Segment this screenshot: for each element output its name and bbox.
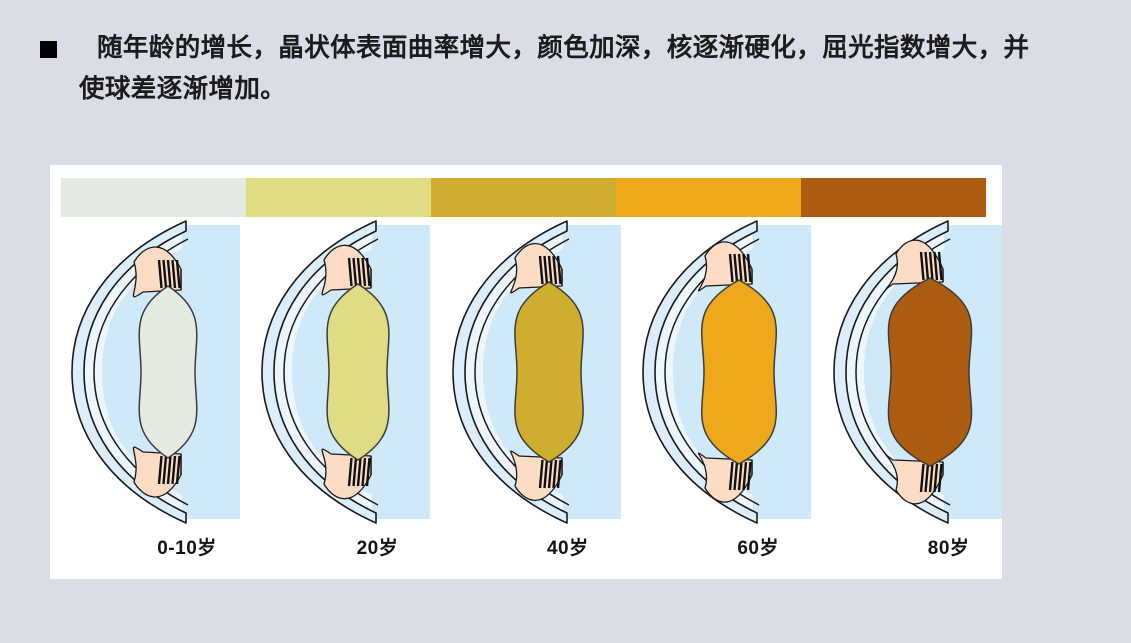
bullet-paragraph: 随年龄的增长，晶状体表面曲率增大，颜色加深，核逐渐硬化，屈光指数增大，并使球差逐… (40, 28, 1050, 111)
eye-diagram-60 (621, 217, 811, 527)
figure-panel: 0-10岁20岁40岁60岁80岁 (50, 165, 1002, 579)
eye-diagram-80 (812, 217, 1002, 527)
crystalline-lens (327, 284, 389, 460)
bullet-text: 随年龄的增长，晶状体表面曲率增大，颜色加深，核逐渐硬化，屈光指数增大，并使球差逐… (79, 28, 1050, 111)
eye-diagram-row (50, 217, 1002, 527)
age-label-row: 0-10岁20岁40岁60岁80岁 (50, 527, 1002, 571)
age-80-swatch (801, 178, 986, 217)
eye-cross-section (643, 221, 811, 523)
age-label-20: 20岁 (312, 533, 442, 560)
crystalline-lens (702, 280, 777, 464)
crystalline-lens (888, 278, 971, 466)
eye-cross-section (262, 221, 430, 523)
eye-diagram-0-10 (50, 217, 240, 527)
crystalline-lens (515, 282, 583, 462)
lens-color-gradient-bar (61, 178, 986, 217)
age-label-40: 40岁 (503, 533, 633, 560)
eye-diagram-20 (240, 217, 430, 527)
age-60-swatch (616, 178, 801, 217)
age-label-60: 60岁 (693, 533, 823, 560)
eye-diagram-40 (431, 217, 621, 527)
eye-cross-section (834, 221, 1002, 523)
crystalline-lens (139, 286, 197, 458)
age-0-10-swatch (61, 178, 246, 217)
eye-cross-section (72, 221, 240, 523)
age-20-swatch (246, 178, 431, 217)
eye-cross-section (453, 221, 621, 523)
age-label-80: 80岁 (884, 533, 1014, 560)
age-40-swatch (431, 178, 616, 217)
age-label-0-10: 0-10岁 (122, 533, 252, 560)
bullet-square-icon (40, 41, 57, 58)
